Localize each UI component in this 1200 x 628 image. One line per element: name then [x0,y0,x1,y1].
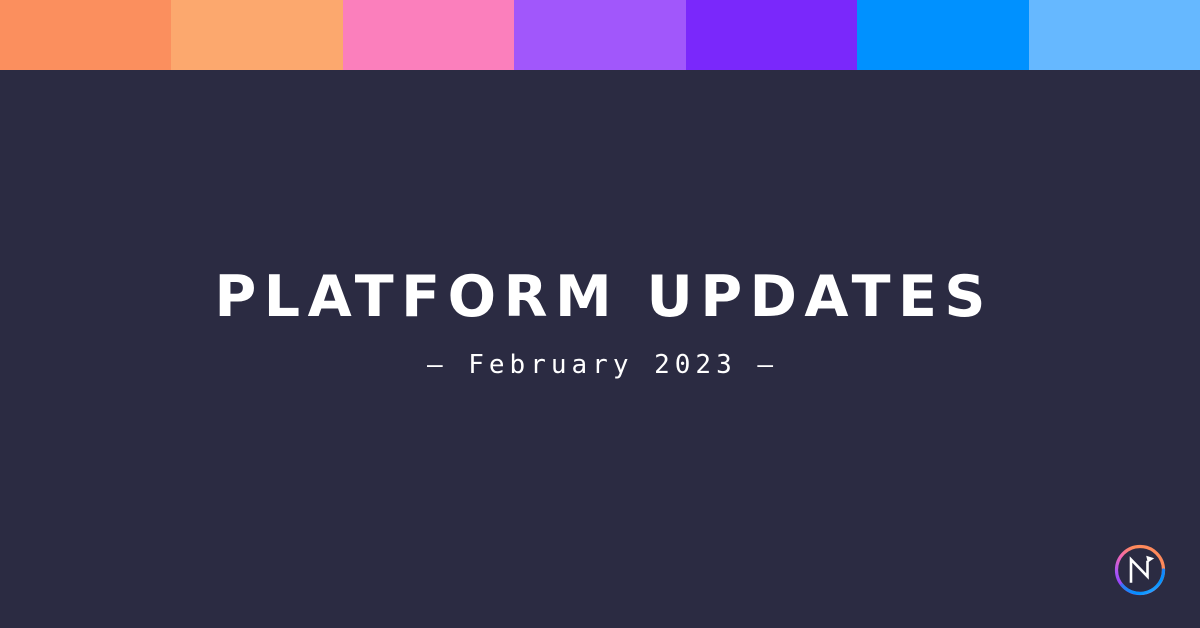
logo-ring-blue [1122,570,1164,593]
page-title: PLATFORM UPDATES [207,269,993,326]
page-subtitle: — February 2023 — [422,352,778,378]
brand-logo [1112,542,1168,598]
logo-letter-n [1131,560,1148,582]
hero-section: PLATFORM UPDATES — February 2023 — [0,0,1200,628]
